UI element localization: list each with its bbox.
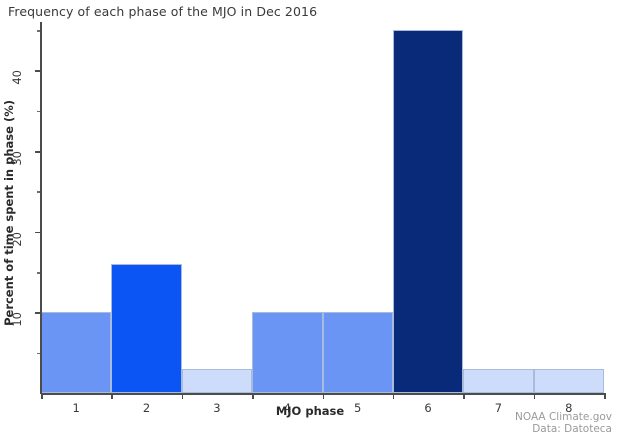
y-tick-label-30: 30	[10, 151, 24, 166]
y-axis-title: Percent of time spent in phase (%)	[2, 100, 16, 326]
bar-phase-8	[534, 369, 604, 393]
credit-line-2: Data: Datoteca	[515, 423, 612, 435]
y-tick-label-40: 40	[10, 70, 24, 85]
bar-phase-5	[323, 312, 393, 393]
bar-phase-3	[182, 369, 252, 393]
credit-line-1: NOAA Climate.gov	[515, 411, 612, 423]
chart-figure: Frequency of each phase of the MJO in De…	[0, 0, 620, 439]
y-tick-label-10: 10	[10, 312, 24, 327]
chart-title: Frequency of each phase of the MJO in De…	[8, 4, 317, 19]
bar-phase-7	[463, 369, 533, 393]
bar-phase-1	[41, 312, 111, 393]
y-axis-line	[40, 22, 42, 394]
credit-block: NOAA Climate.gov Data: Datoteca	[515, 411, 612, 435]
x-axis-line	[41, 393, 605, 395]
bar-phase-4	[252, 312, 322, 393]
y-tick-label-20: 20	[10, 232, 24, 247]
plot-area: 10203040 12345678	[41, 22, 604, 393]
bar-phase-2	[111, 264, 181, 393]
bar-phase-6	[393, 30, 463, 393]
